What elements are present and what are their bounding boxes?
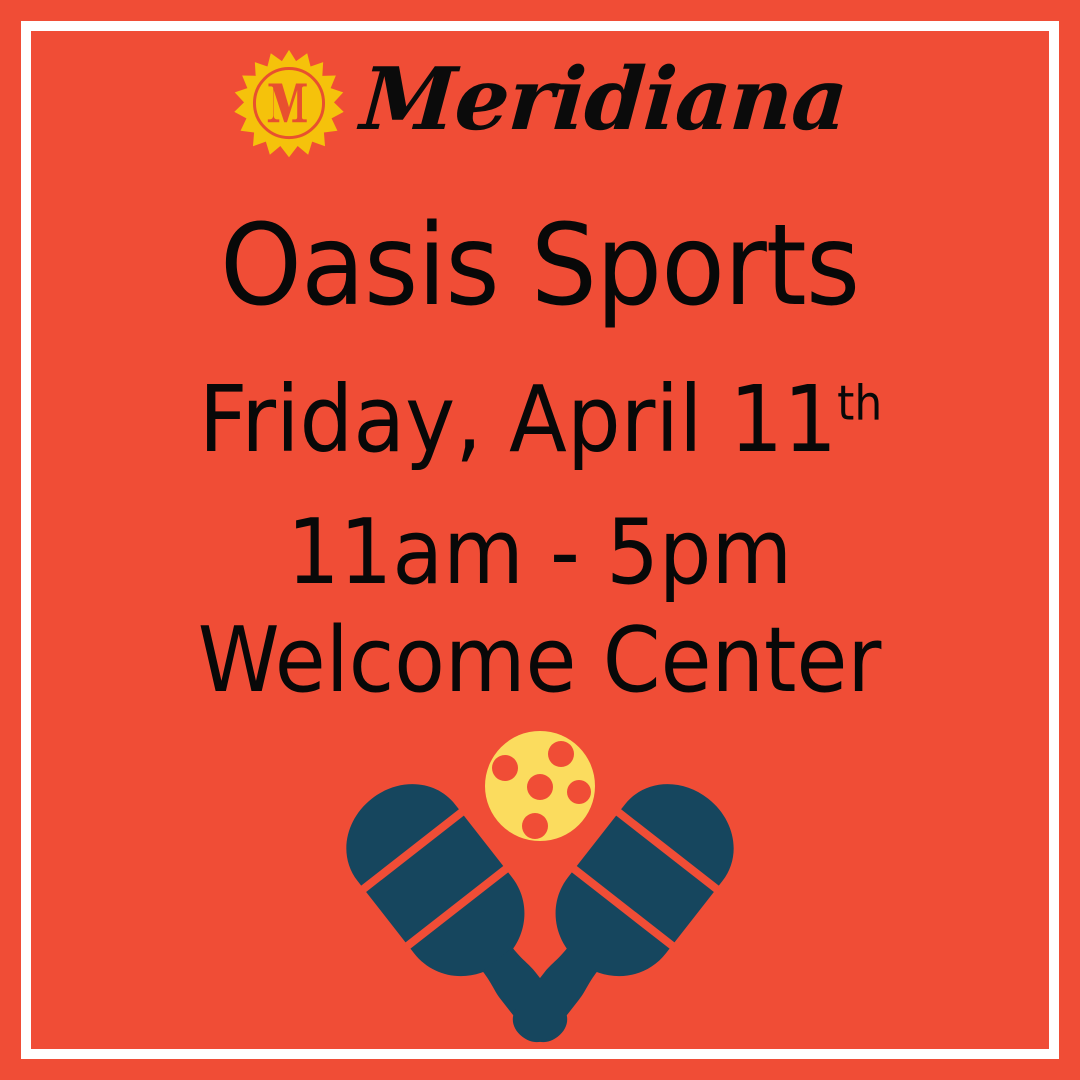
event-time: 11am - 5pm xyxy=(287,508,792,598)
event-flyer: Meridiana Oasis Sports Friday, April 11t… xyxy=(0,0,1080,1080)
sun-logo-icon xyxy=(233,48,345,160)
event-date-text: Friday, April 11 xyxy=(198,366,836,473)
event-location: Welcome Center xyxy=(198,616,882,706)
flyer-content: Meridiana Oasis Sports Friday, April 11t… xyxy=(31,31,1049,1049)
brand-name: Meridiana xyxy=(358,57,850,143)
event-date-ordinal: th xyxy=(837,376,882,431)
crossed-pickleball-paddles-icon xyxy=(305,730,775,1080)
brand-header: Meridiana xyxy=(233,48,847,160)
event-date: Friday, April 11th xyxy=(198,374,882,466)
event-title: Oasis Sports xyxy=(220,210,859,322)
pickleball-ball-icon xyxy=(485,731,595,841)
